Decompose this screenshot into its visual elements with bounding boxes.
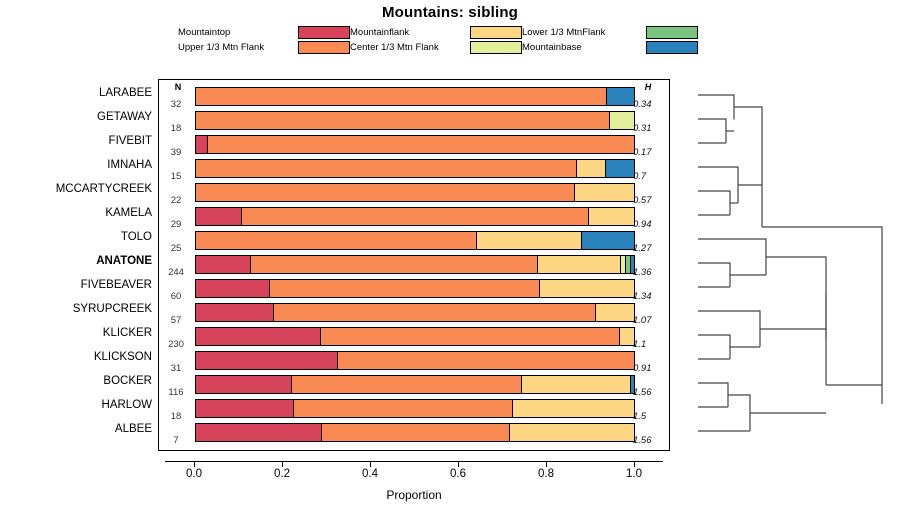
- bar-segment: [196, 136, 207, 153]
- bar-segment: [207, 136, 634, 153]
- dendrogram: [690, 79, 898, 451]
- bar-segment: [521, 376, 631, 393]
- h-value: 0.94: [633, 219, 669, 230]
- bar-segment: [196, 352, 337, 369]
- stacked-bar[interactable]: [195, 399, 635, 418]
- y-axis-label-klicker: KLICKER: [0, 327, 152, 339]
- h-value: 1.56: [633, 435, 669, 446]
- stacked-bar[interactable]: [195, 87, 635, 106]
- legend-column-3: Lower 1/3 MtnFlank Mountainbase: [522, 26, 698, 56]
- bar-segment: [196, 424, 321, 441]
- stacked-bar[interactable]: [195, 303, 635, 322]
- stacked-bar[interactable]: [195, 159, 635, 178]
- x-axis-tick-label: 0.2: [262, 468, 302, 480]
- x-axis-tick-label: 0.0: [174, 468, 214, 480]
- legend-label-mountaintop: Mountaintop: [178, 27, 294, 38]
- bar-segment: [291, 376, 521, 393]
- h-value: 0.31: [633, 123, 669, 134]
- n-value: 116: [159, 387, 193, 398]
- stacked-bar[interactable]: [195, 423, 635, 442]
- h-value: 1.27: [633, 243, 669, 254]
- n-value: 22: [159, 195, 193, 206]
- legend-swatch-mountainflank: [470, 26, 522, 39]
- bar-segment: [581, 232, 634, 249]
- bar-segment: [250, 256, 537, 273]
- h-value: 0.34: [633, 99, 669, 110]
- chart-root: Mountains: sibling Mountaintop Upper 1/3…: [0, 0, 900, 520]
- n-value: 60: [159, 291, 193, 302]
- x-axis-tick-label: 0.6: [438, 468, 478, 480]
- legend-label-upper-third: Upper 1/3 Mtn Flank: [178, 42, 294, 53]
- legend-swatch-center-third: [470, 41, 522, 54]
- stacked-bar[interactable]: [195, 135, 635, 154]
- plot-panel: N H 320.34180.31390.17150.7220.57290.942…: [158, 79, 670, 451]
- stacked-bar[interactable]: [195, 183, 635, 202]
- y-axis-label-mccartycreek: MCCARTYCREEK: [0, 183, 152, 195]
- chart-title: Mountains: sibling: [0, 4, 900, 21]
- h-value: 0.7: [633, 171, 669, 182]
- stacked-bar[interactable]: [195, 375, 635, 394]
- bar-segment: [196, 160, 576, 177]
- legend-column-1: Mountaintop Upper 1/3 Mtn Flank: [178, 26, 350, 56]
- stacked-bar[interactable]: [195, 231, 635, 250]
- h-value: 0.91: [633, 363, 669, 374]
- x-axis-tick-label: 0.8: [526, 468, 566, 480]
- bar-segment: [576, 160, 605, 177]
- y-axis-label-imnaha: IMNAHA: [0, 159, 152, 171]
- bar-segment: [196, 208, 241, 225]
- y-axis-label-albee: ALBEE: [0, 423, 152, 435]
- bar-segment: [196, 376, 291, 393]
- y-axis-label-bocker: BOCKER: [0, 375, 152, 387]
- bar-segment: [196, 400, 293, 417]
- stacked-bar[interactable]: [195, 255, 635, 274]
- legend-item-lower-third: Lower 1/3 MtnFlank: [522, 26, 698, 39]
- bar-segment: [269, 280, 539, 297]
- legend: Mountaintop Upper 1/3 Mtn Flank Mountain…: [178, 26, 698, 56]
- n-value: 32: [159, 99, 193, 110]
- bar-segment: [619, 328, 634, 345]
- bar-segment: [630, 376, 634, 393]
- y-axis-label-kamela: KAMELA: [0, 207, 152, 219]
- n-value: 29: [159, 219, 193, 230]
- bar-segment: [321, 424, 508, 441]
- legend-item-mountaintop: Mountaintop: [178, 26, 350, 39]
- n-value: 18: [159, 123, 193, 134]
- h-value: 0.17: [633, 147, 669, 158]
- y-axis-label-tolo: TOLO: [0, 231, 152, 243]
- y-axis-label-syrupcreek: SYRUPCREEK: [0, 303, 152, 315]
- y-axis-label-getaway: GETAWAY: [0, 111, 152, 123]
- n-value: 57: [159, 315, 193, 326]
- bar-segment: [605, 160, 634, 177]
- n-value: 7: [159, 435, 193, 446]
- stacked-bars-area: 320.34180.31390.17150.7220.57290.94251.2…: [159, 80, 669, 450]
- y-axis-label-klickson: KLICKSON: [0, 351, 152, 363]
- x-axis-line: [165, 461, 663, 462]
- stacked-bar[interactable]: [195, 207, 635, 226]
- x-axis-tick: [458, 461, 459, 467]
- x-axis-title: Proportion: [158, 488, 670, 502]
- bar-segment: [196, 184, 574, 201]
- y-axis-label-harlow: HARLOW: [0, 399, 152, 411]
- bar-segment: [509, 424, 634, 441]
- bar-segment: [630, 256, 634, 273]
- y-axis-label-fivebeaver: FIVEBEAVER: [0, 279, 152, 291]
- dendrogram-svg: [690, 79, 898, 451]
- x-axis-tick: [370, 461, 371, 467]
- x-axis-tick: [634, 461, 635, 467]
- n-value: 15: [159, 171, 193, 182]
- legend-label-mountainflank: Mountainflank: [350, 27, 470, 38]
- bar-segment: [196, 304, 273, 321]
- legend-item-center-third: Center 1/3 Mtn Flank: [350, 41, 522, 54]
- bar-segment: [196, 88, 606, 105]
- h-value: 1.07: [633, 315, 669, 326]
- bar-segment: [196, 112, 609, 129]
- legend-label-mountainbase: Mountainbase: [522, 42, 646, 53]
- bar-segment: [337, 352, 634, 369]
- legend-item-mountainflank: Mountainflank: [350, 26, 522, 39]
- bar-segment: [539, 280, 634, 297]
- bar-segment: [293, 400, 512, 417]
- bar-segment: [537, 256, 620, 273]
- bar-segment: [196, 256, 250, 273]
- stacked-bar[interactable]: [195, 351, 635, 370]
- bar-segment: [595, 304, 634, 321]
- stacked-bar[interactable]: [195, 111, 635, 130]
- bar-segment: [476, 232, 581, 249]
- bar-segment: [609, 112, 634, 129]
- h-value: 0.57: [633, 195, 669, 206]
- bar-segment: [273, 304, 596, 321]
- legend-label-center-third: Center 1/3 Mtn Flank: [350, 42, 470, 53]
- n-value: 18: [159, 411, 193, 422]
- x-axis-tick-label: 1.0: [614, 468, 654, 480]
- legend-label-lower-third: Lower 1/3 MtnFlank: [522, 27, 646, 38]
- h-value: 1.5: [633, 411, 669, 422]
- x-axis-tick: [282, 461, 283, 467]
- n-value: 25: [159, 243, 193, 254]
- bar-segment: [196, 280, 269, 297]
- legend-swatch-mountaintop: [298, 26, 350, 39]
- legend-swatch-lower-third: [646, 26, 698, 39]
- x-axis-tick-label: 0.4: [350, 468, 390, 480]
- n-value: 39: [159, 147, 193, 158]
- y-axis-label-fivebit: FIVEBIT: [0, 135, 152, 147]
- n-value: 230: [159, 339, 193, 350]
- x-axis-tick: [194, 461, 195, 467]
- bar-segment: [196, 328, 320, 345]
- legend-swatch-mountainbase: [646, 41, 698, 54]
- bar-segment: [320, 328, 619, 345]
- x-axis-tick: [546, 461, 547, 467]
- legend-swatch-upper-third: [298, 41, 350, 54]
- h-value: 1.1: [633, 339, 669, 350]
- h-value: 1.56: [633, 387, 669, 398]
- legend-column-2: Mountainflank Center 1/3 Mtn Flank: [350, 26, 522, 56]
- bar-segment: [196, 232, 476, 249]
- bar-segment: [241, 208, 588, 225]
- y-axis-label-anatone: ANATONE: [0, 255, 152, 267]
- n-value: 31: [159, 363, 193, 374]
- legend-item-mountainbase: Mountainbase: [522, 41, 698, 54]
- y-axis-label-larabee: LARABEE: [0, 87, 152, 99]
- stacked-bar[interactable]: [195, 279, 635, 298]
- bar-segment: [512, 400, 634, 417]
- bar-segment: [606, 88, 634, 105]
- stacked-bar[interactable]: [195, 327, 635, 346]
- bar-segment: [588, 208, 634, 225]
- n-value: 244: [159, 267, 193, 278]
- h-value: 1.36: [633, 267, 669, 278]
- bar-segment: [574, 184, 634, 201]
- legend-item-upper-third: Upper 1/3 Mtn Flank: [178, 41, 350, 54]
- h-value: 1.34: [633, 291, 669, 302]
